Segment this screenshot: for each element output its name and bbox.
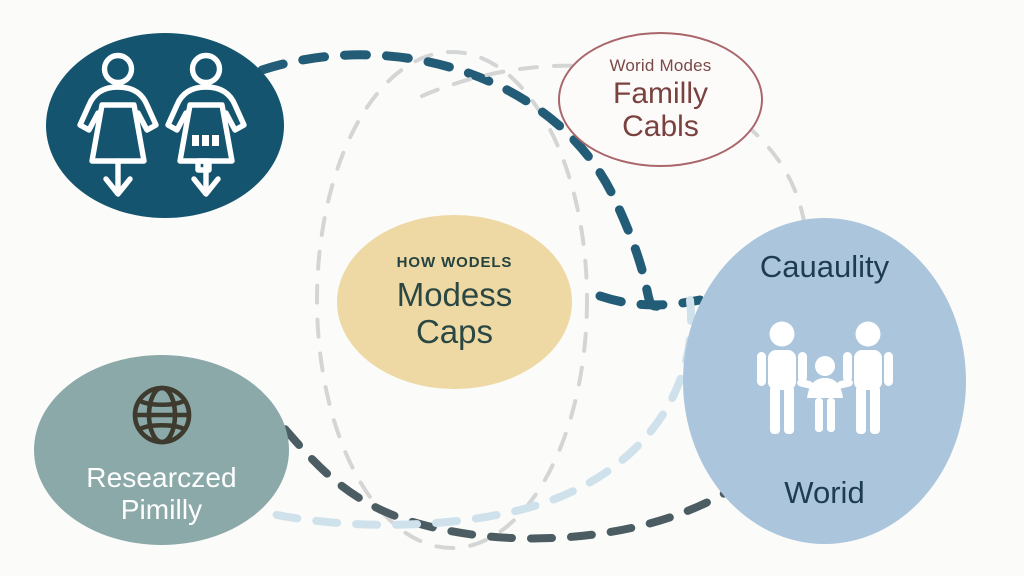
- causality-node-subtitle: Worid: [784, 476, 864, 510]
- family-node-title-line-1: Familly: [613, 77, 708, 110]
- models-node-title-line-1: Modess: [397, 277, 513, 314]
- two-women-down-arrows-icon: [70, 49, 260, 204]
- research-node-title-line-2: Pimilly: [86, 494, 236, 526]
- family-of-three-icon: [745, 320, 905, 440]
- population-node[interactable]: [46, 33, 284, 218]
- causality-node[interactable]: Cauaulity: [683, 218, 966, 544]
- diagram-canvas: Worid Modes Familly Cabls HOW WODELS Mod…: [0, 0, 1024, 576]
- research-node-title: Researczed Pimilly: [86, 462, 236, 527]
- models-node-title-line-2: Caps: [397, 314, 513, 351]
- family-node-title-line-2: Cabls: [613, 110, 708, 143]
- models-node-eyebrow: HOW WODELS: [397, 254, 513, 271]
- research-node-title-line-1: Researczed: [86, 462, 236, 494]
- slate-dashed-arc: [258, 400, 742, 538]
- models-node[interactable]: HOW WODELS Modess Caps: [337, 215, 572, 389]
- research-node[interactable]: Researczed Pimilly: [34, 355, 289, 545]
- family-node[interactable]: Worid Modes Familly Cabls: [558, 32, 763, 167]
- family-node-title: Familly Cabls: [613, 77, 708, 143]
- globe-icon: [131, 384, 193, 446]
- models-node-title: Modess Caps: [397, 277, 513, 351]
- causality-node-title: Cauaulity: [760, 250, 889, 284]
- family-node-eyebrow: Worid Modes: [609, 56, 711, 76]
